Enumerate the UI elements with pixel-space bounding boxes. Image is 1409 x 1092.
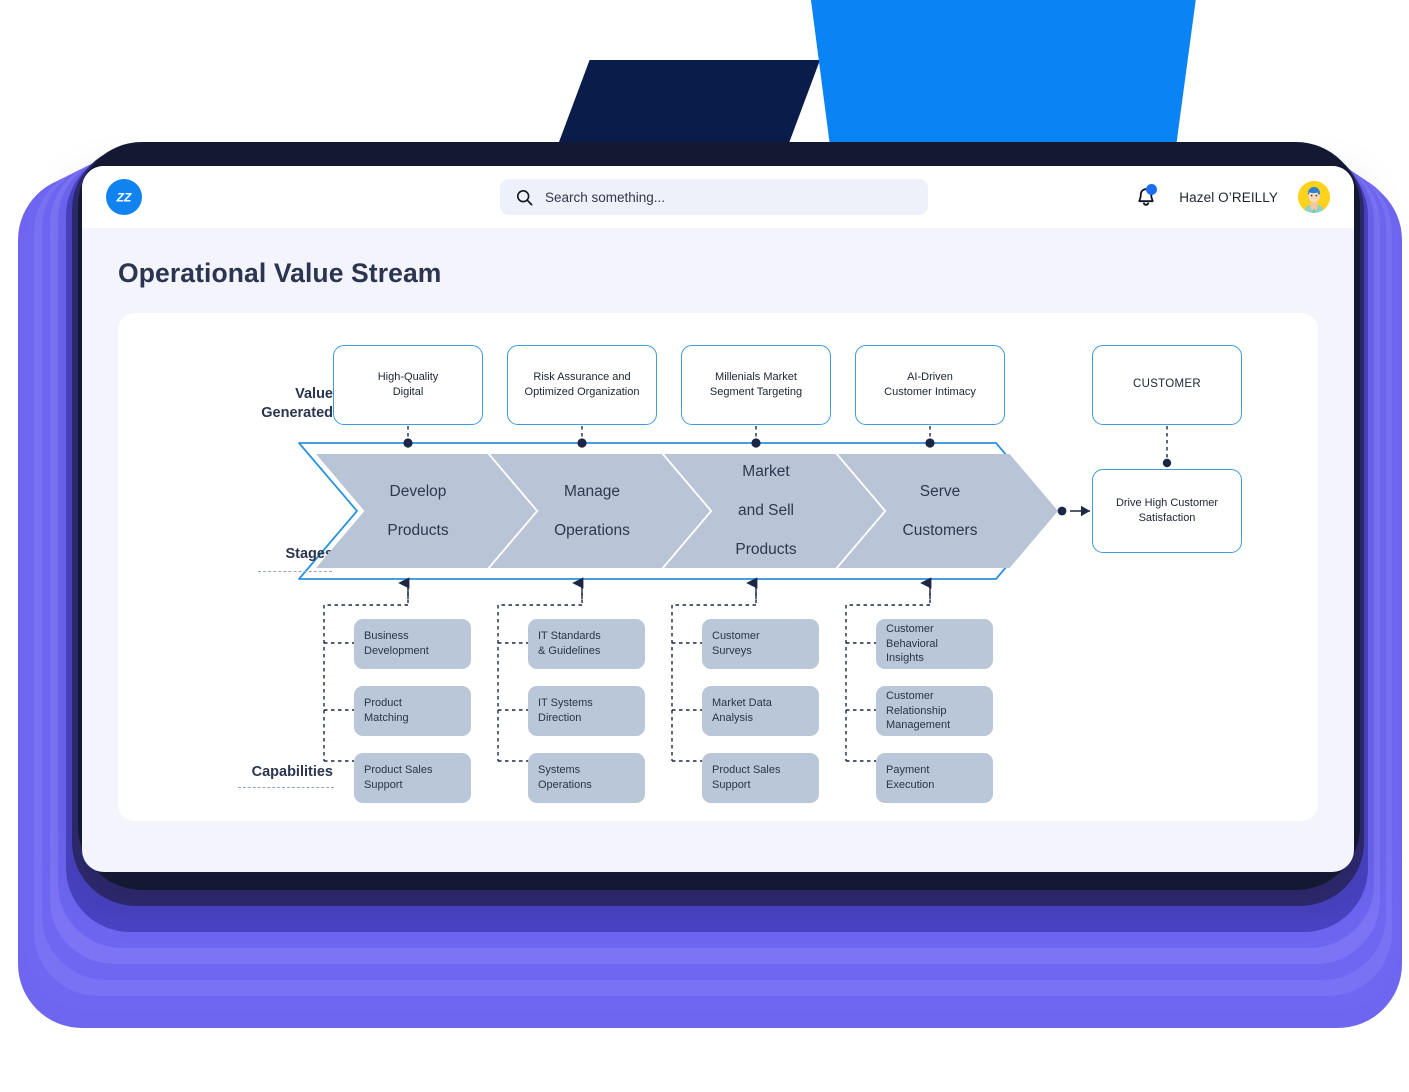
screenshot-root: ZZ <box>0 0 1409 1092</box>
search-bar[interactable] <box>500 179 928 215</box>
search-icon <box>516 189 533 206</box>
value-box-line1: AI-Driven <box>907 371 953 383</box>
capability-market-data-analysis[interactable]: Market Data Analysis <box>702 686 819 736</box>
row-label-capabilities-underline <box>238 787 334 788</box>
capability-line2: Matching <box>364 712 409 724</box>
outcome-box-line2: Satisfaction <box>1139 512 1196 524</box>
value-box-line1: High-Quality <box>378 371 439 383</box>
capability-line1: Market Data <box>712 697 772 709</box>
capability-product-sales-support[interactable]: Product Sales Support <box>354 753 471 803</box>
user-name: Hazel O’REILLY <box>1179 190 1278 205</box>
value-box-line1: Risk Assurance and <box>533 371 630 383</box>
capability-line2: Relationship <box>886 705 947 717</box>
diagram-panel: Value Generated Stages Capabilities High… <box>118 313 1318 821</box>
stage-label-line2: Operations <box>554 521 630 541</box>
row-label-stages: Stages <box>208 545 333 564</box>
value-box-line2: Optimized Organization <box>525 386 640 398</box>
capability-business-development[interactable]: Business Development <box>354 619 471 669</box>
capability-line2: Behavioral <box>886 638 938 650</box>
value-box-risk-assurance[interactable]: Risk Assurance and Optimized Organizatio… <box>507 345 657 425</box>
bell-icon[interactable] <box>1133 183 1159 211</box>
stage-label-line1: Manage <box>554 482 630 502</box>
capability-line3: Insights <box>886 652 924 664</box>
stage-label-line1: Develop <box>387 482 448 502</box>
row-label-stages-underline <box>258 571 332 572</box>
capability-line1: Customer <box>886 623 934 635</box>
row-label-capabilities: Capabilities <box>178 763 333 782</box>
capability-line1: Business <box>364 630 409 642</box>
capability-line1: Product <box>364 697 402 709</box>
capability-line2: Execution <box>886 779 934 791</box>
stage-label-line1: Serve <box>903 482 978 502</box>
capability-payment-execution[interactable]: Payment Execution <box>876 753 993 803</box>
capability-line2: Development <box>364 645 429 657</box>
stage-label-line2: and Sell <box>735 501 796 521</box>
search-input[interactable] <box>545 190 912 205</box>
row-label-line1: Value <box>295 386 333 402</box>
value-box-line2: Customer Intimacy <box>884 386 976 398</box>
app-body: Operational Value Stream <box>82 228 1354 821</box>
page-title: Operational Value Stream <box>118 258 1318 289</box>
capability-line2: Support <box>364 779 403 791</box>
capability-line2: Operations <box>538 779 592 791</box>
capability-line1: Customer <box>712 630 760 642</box>
capability-line2: & Guidelines <box>538 645 600 657</box>
outcome-box-drive-high-customer-satisfaction[interactable]: Drive High Customer Satisfaction <box>1092 469 1242 553</box>
capability-line2: Direction <box>538 712 581 724</box>
capability-line2: Support <box>712 779 751 791</box>
capability-line1: Payment <box>886 764 929 776</box>
capability-line2: Analysis <box>712 712 753 724</box>
capability-line1: IT Systems <box>538 697 593 709</box>
capability-customer-behavioral-insights[interactable]: Customer Behavioral Insights <box>876 619 993 669</box>
capability-it-standards-guidelines[interactable]: IT Standards & Guidelines <box>528 619 645 669</box>
capability-systems-operations[interactable]: Systems Operations <box>528 753 645 803</box>
capability-line1: Customer <box>886 690 934 702</box>
capability-it-systems-direction[interactable]: IT Systems Direction <box>528 686 645 736</box>
stage-label-line2: Customers <box>903 521 978 541</box>
capability-line3: Management <box>886 719 950 731</box>
header-actions: Hazel O’REILLY <box>1133 181 1330 213</box>
value-box-customer[interactable]: CUSTOMER <box>1092 345 1242 425</box>
capability-product-sales-support-2[interactable]: Product Sales Support <box>702 753 819 803</box>
capability-product-matching[interactable]: Product Matching <box>354 686 471 736</box>
capability-line1: Product Sales <box>712 764 780 776</box>
zz-logo-icon[interactable]: ZZ <box>106 179 142 215</box>
value-box-line2: Digital <box>393 386 424 398</box>
value-box-high-quality-digital[interactable]: High-Quality Digital <box>333 345 483 425</box>
capability-line1: Systems <box>538 764 580 776</box>
capability-line1: IT Standards <box>538 630 601 642</box>
avatar[interactable] <box>1298 181 1330 213</box>
app-header: ZZ <box>82 166 1354 228</box>
value-box-millenials-market-segment-targeting[interactable]: Millenials Market Segment Targeting <box>681 345 831 425</box>
svg-text:ZZ: ZZ <box>116 191 132 205</box>
capability-line1: Product Sales <box>364 764 432 776</box>
row-label-value-generated: Value Generated <box>208 385 333 422</box>
value-box-line2: Segment Targeting <box>710 386 802 398</box>
stage-label-line3: Products <box>735 540 796 560</box>
outcome-box-line1: Drive High Customer <box>1116 497 1218 509</box>
stage-label-line2: Products <box>387 521 448 541</box>
value-stream-diagram: Value Generated Stages Capabilities High… <box>118 313 1318 821</box>
stage-label-line1: Market <box>735 462 796 482</box>
capability-line2: Surveys <box>712 645 752 657</box>
app-window: ZZ <box>82 166 1354 872</box>
capability-customer-surveys[interactable]: Customer Surveys <box>702 619 819 669</box>
capability-customer-relationship-management[interactable]: Customer Relationship Management <box>876 686 993 736</box>
value-box-ai-driven-customer-intimacy[interactable]: AI-Driven Customer Intimacy <box>855 345 1005 425</box>
row-label-line2: Generated <box>261 405 333 421</box>
value-box-line1: Millenials Market <box>715 371 797 383</box>
